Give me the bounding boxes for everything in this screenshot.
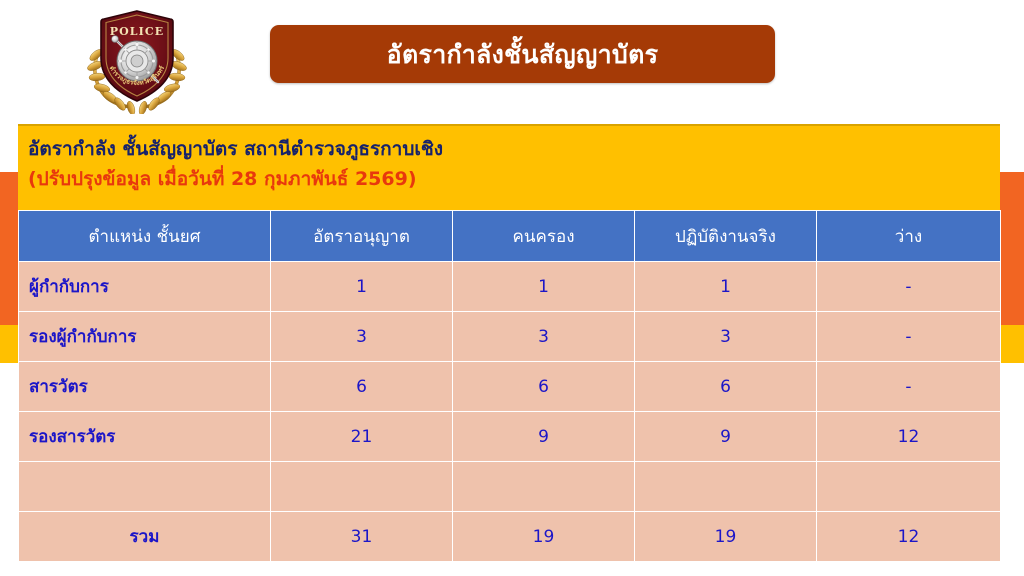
table-row: รองสารวัตร 21 9 9 12: [19, 412, 1001, 462]
police-badge-icon: POLICE: [82, 6, 192, 114]
cell-held: 1: [453, 262, 635, 312]
column-header-held: คนครอง: [453, 211, 635, 262]
cell-vacant: 12: [817, 412, 1001, 462]
cell-total-held: 19: [453, 512, 635, 562]
cell-allowed: 6: [271, 362, 453, 412]
column-header-active: ปฏิบัติงานจริง: [635, 211, 817, 262]
svg-text:POLICE: POLICE: [110, 25, 164, 38]
column-header-rank: ตำแหน่ง ชั้นยศ: [19, 211, 271, 262]
cell-held: [453, 462, 635, 512]
info-panel: อัตรากำลัง ชั้นสัญญาบัตร สถานีตำรวจภูธรก…: [18, 124, 1000, 210]
cell-vacant: -: [817, 262, 1001, 312]
cell-rank: รองสารวัตร: [19, 412, 271, 462]
cell-allowed: 3: [271, 312, 453, 362]
table-row-empty: [19, 462, 1001, 512]
cell-active: [635, 462, 817, 512]
slide-title-banner: อัตรากำลังชั้นสัญญาบัตร: [270, 25, 775, 83]
cell-vacant: [817, 462, 1001, 512]
column-header-vacant: ว่าง: [817, 211, 1001, 262]
table-row: สารวัตร 6 6 6 -: [19, 362, 1001, 412]
table-row: รองผู้กำกับการ 3 3 3 -: [19, 312, 1001, 362]
cell-total-active: 19: [635, 512, 817, 562]
cell-active: 6: [635, 362, 817, 412]
cell-held: 3: [453, 312, 635, 362]
cell-held: 9: [453, 412, 635, 462]
cell-rank: รองผู้กำกับการ: [19, 312, 271, 362]
cell-allowed: 1: [271, 262, 453, 312]
info-panel-heading: อัตรากำลัง ชั้นสัญญาบัตร สถานีตำรวจภูธรก…: [28, 134, 1000, 164]
table-row: ผู้กำกับการ 1 1 1 -: [19, 262, 1001, 312]
column-header-allowed: อัตราอนุญาต: [271, 211, 453, 262]
cell-total-allowed: 31: [271, 512, 453, 562]
info-panel-updated-on: (ปรับปรุงข้อมูล เมื่อวันที่ 28 กุมภาพันธ…: [28, 164, 1000, 194]
page-title: อัตรากำลังชั้นสัญญาบัตร: [387, 42, 659, 67]
cell-vacant: -: [817, 312, 1001, 362]
cell-allowed: 21: [271, 412, 453, 462]
officer-strength-table: ตำแหน่ง ชั้นยศ อัตราอนุญาต คนครอง ปฏิบัต…: [18, 210, 1001, 562]
cell-active: 9: [635, 412, 817, 462]
cell-rank: [19, 462, 271, 512]
cell-rank: สารวัตร: [19, 362, 271, 412]
cell-vacant: -: [817, 362, 1001, 412]
cell-allowed: [271, 462, 453, 512]
cell-total-label: รวม: [19, 512, 271, 562]
cell-total-vacant: 12: [817, 512, 1001, 562]
cell-active: 3: [635, 312, 817, 362]
cell-rank: ผู้กำกับการ: [19, 262, 271, 312]
slide-canvas: POLICE: [0, 0, 1024, 576]
table-total-row: รวม 31 19 19 12: [19, 512, 1001, 562]
cell-held: 6: [453, 362, 635, 412]
table-header-row: ตำแหน่ง ชั้นยศ อัตราอนุญาต คนครอง ปฏิบัต…: [19, 211, 1001, 262]
cell-active: 1: [635, 262, 817, 312]
